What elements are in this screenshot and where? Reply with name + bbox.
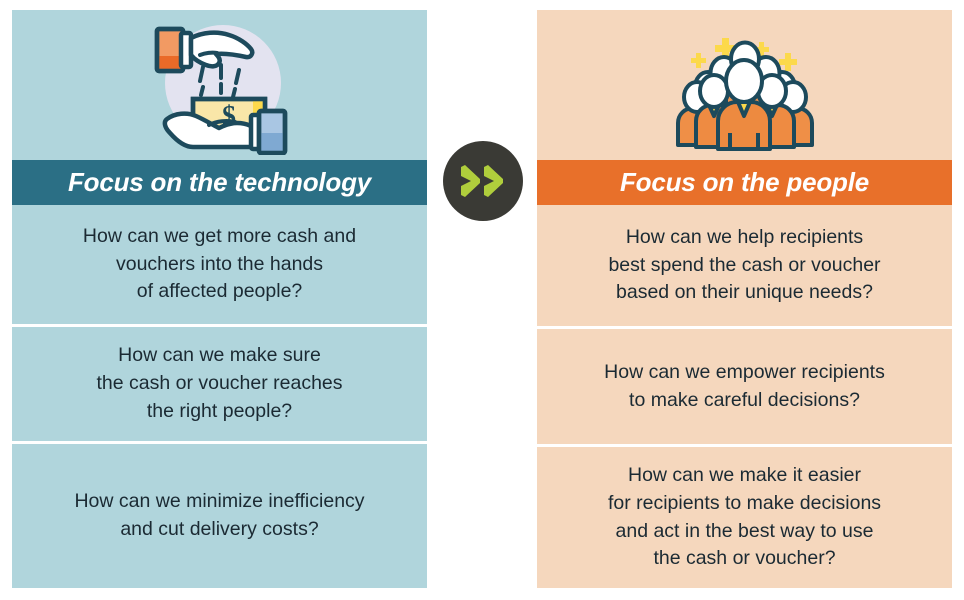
double-chevron-right-icon xyxy=(443,141,523,221)
question-row: How can we get more cash and vouchers in… xyxy=(12,205,427,324)
question-row: How can we empower recipients to make ca… xyxy=(537,326,952,444)
question-row: How can we make it easier for recipients… xyxy=(537,444,952,588)
crowd-of-people-icon-zone xyxy=(537,10,952,160)
infographic-canvas: $ Focus on the technology How can we get… xyxy=(0,0,964,600)
question-row: How can we make sure the cash or voucher… xyxy=(12,324,427,441)
panel-left-header: Focus on the technology xyxy=(12,160,427,205)
panel-left-question-list: How can we get more cash and vouchers in… xyxy=(12,205,427,588)
panel-right-question-list: How can we help recipients best spend th… xyxy=(537,205,952,588)
question-row: How can we minimize inefficiency and cut… xyxy=(12,441,427,588)
panel-focus-on-people: Focus on the people How can we help reci… xyxy=(537,10,952,588)
cash-handoff-icon-zone: $ xyxy=(12,10,427,160)
cash-handoff-icon: $ xyxy=(147,15,293,155)
question-row: How can we help recipients best spend th… xyxy=(537,205,952,326)
panel-focus-on-technology: $ Focus on the technology How can we get… xyxy=(12,10,427,588)
panel-right-header: Focus on the people xyxy=(537,160,952,205)
crowd-of-people-icon xyxy=(670,15,820,155)
